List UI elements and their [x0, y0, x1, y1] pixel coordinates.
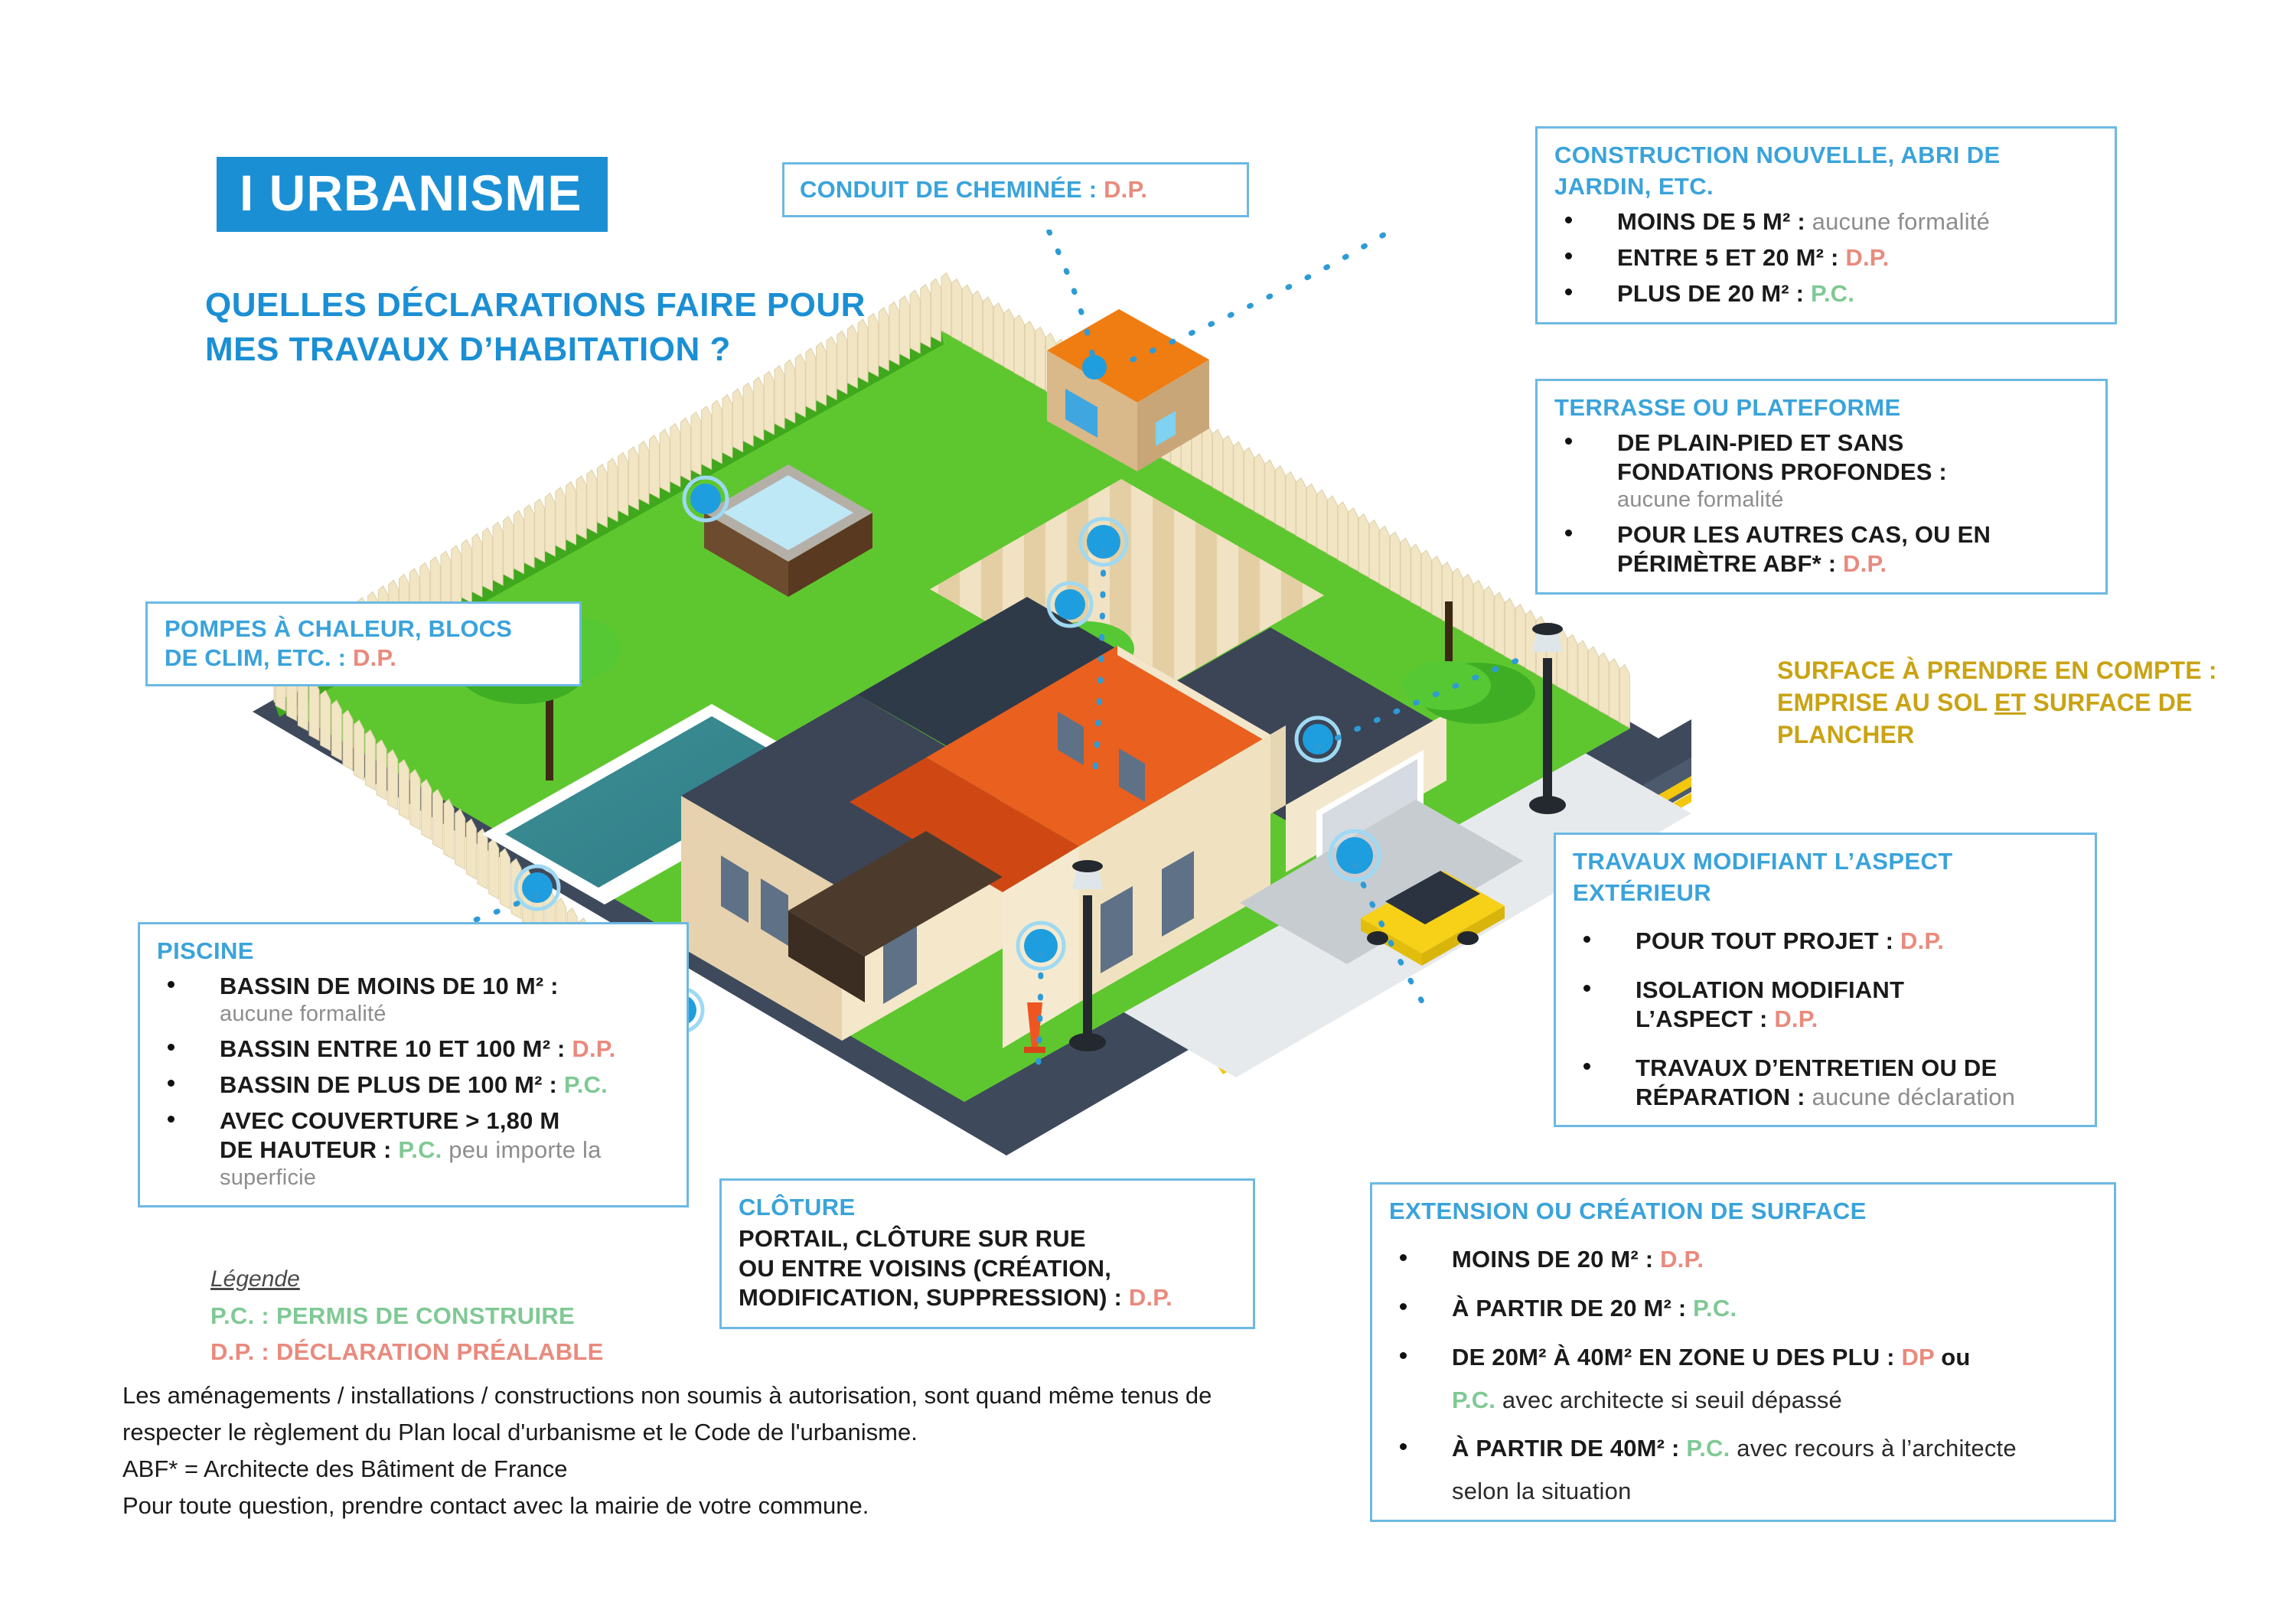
item-label: MOINS DE 5 M² :	[1617, 208, 1812, 235]
item-label-line-2: FONDATIONS PROFONDES :	[1617, 458, 1947, 485]
extension-header: EXTENSION OU CRÉATION DE SURFACE	[1389, 1197, 2097, 1225]
item-tail-2: selon la situation	[1452, 1477, 2097, 1506]
bullet-dot	[1583, 985, 1590, 992]
bullet-dot	[1565, 253, 1572, 259]
item-value-2: P.C.	[1452, 1387, 1495, 1413]
terrasse-header: TERRASSE OU PLATEFORME	[1554, 393, 2089, 422]
list-item: TRAVAUX D’ENTRETIEN OU DE RÉPARATION : a…	[1573, 1054, 2078, 1112]
item-label: À PARTIR DE 20 M² :	[1452, 1295, 1693, 1322]
item-label: MOINS DE 20 M² :	[1452, 1246, 1660, 1273]
item-label-line-2: L’ASPECT :	[1636, 1005, 1774, 1032]
list-item: BASSIN DE MOINS DE 10 M² : aucune formal…	[157, 972, 670, 1028]
item-value: D.P.	[1845, 244, 1889, 271]
cloture-line-3: MODIFICATION, SUPPRESSION) : D.P.	[739, 1283, 1236, 1312]
infographic-canvas: I URBANISME QUELLES DÉCLARATIONS FAIRE P…	[0, 0, 2296, 1623]
list-item: AVEC COUVERTURE > 1,80 M DE HAUTEUR : P.…	[157, 1106, 670, 1191]
list-item: MOINS DE 20 M² : D.P.	[1389, 1245, 2097, 1274]
item-value: DP	[1901, 1344, 1934, 1370]
surface-note: SURFACE À PRENDRE EN COMPTE : EMPRISE AU…	[1777, 654, 2296, 751]
construction-header-1: CONSTRUCTION NOUVELLE, ABRI DE	[1554, 141, 2098, 169]
surface-note-part-a: EMPRISE AU SOL	[1777, 689, 1994, 716]
item-label: BASSIN DE MOINS DE 10 M² :	[220, 973, 559, 999]
piscine-list: BASSIN DE MOINS DE 10 M² : aucune formal…	[157, 972, 670, 1191]
footer-line-3: ABF* = Architecte des Bâtiment de France	[122, 1451, 1347, 1488]
piscine-header: PISCINE	[157, 937, 670, 965]
bullet-dot	[1565, 217, 1572, 223]
list-item: BASSIN ENTRE 10 ET 100 M² : D.P.	[157, 1035, 670, 1064]
subtitle-line-2: MES TRAVAUX D’HABITATION ?	[205, 328, 970, 372]
legend-pc: P.C. : PERMIS DE CONSTRUIRE	[210, 1299, 700, 1335]
bullet-dot	[1583, 1063, 1590, 1070]
extension-list: MOINS DE 20 M² : D.P. À PARTIR DE 20 M² …	[1389, 1245, 2097, 1506]
bullet-dot	[1583, 936, 1590, 943]
footer-line-4: Pour toute question, prendre contact ave…	[122, 1488, 1347, 1524]
item-label: PLUS DE 20 M² :	[1617, 280, 1811, 307]
item-value: P.C.	[398, 1136, 442, 1163]
bullet-dot	[168, 981, 174, 988]
callout-cloture: CLÔTURE PORTAIL, CLÔTURE SUR RUE OU ENTR…	[719, 1178, 1255, 1329]
subtitle-line-1: QUELLES DÉCLARATIONS FAIRE POUR	[205, 283, 970, 328]
page-title-badge: I URBANISME	[217, 157, 608, 232]
bullet-dot	[168, 1044, 174, 1051]
item-value: D.P.	[1843, 550, 1887, 577]
item-value: aucune déclaration	[1812, 1084, 2016, 1110]
item-value: aucune formalité	[1812, 208, 1990, 235]
list-item: MOINS DE 5 M² : aucune formalité	[1554, 207, 2098, 236]
item-value: P.C.	[564, 1071, 608, 1098]
item-label: ENTRE 5 ET 20 M² :	[1617, 244, 1845, 271]
item-label: BASSIN ENTRE 10 ET 100 M² :	[220, 1035, 572, 1062]
page-subtitle: QUELLES DÉCLARATIONS FAIRE POUR MES TRAV…	[205, 283, 970, 372]
cloture-header: CLÔTURE	[739, 1193, 1236, 1221]
list-item: DE 20M² À 40M² EN ZONE U DES PLU : DP ou…	[1389, 1343, 2097, 1415]
bullet-dot	[1400, 1352, 1407, 1359]
pompes-value: D.P.	[353, 644, 396, 671]
list-item: DE PLAIN-PIED ET SANS FONDATIONS PROFOND…	[1554, 429, 2089, 513]
legend-title: Légende	[210, 1266, 700, 1292]
terrasse-list: DE PLAIN-PIED ET SANS FONDATIONS PROFOND…	[1554, 429, 2089, 578]
travaux-header-1: TRAVAUX MODIFIANT L’ASPECT	[1573, 847, 2078, 875]
construction-list: MOINS DE 5 M² : aucune formalité ENTRE 5…	[1554, 207, 2098, 308]
item-label-line-2: PÉRIMÈTRE ABF* :	[1617, 550, 1843, 577]
cheminee-value: D.P.	[1104, 176, 1147, 203]
item-label-line-1: POUR LES AUTRES CAS, OU EN	[1617, 521, 1991, 548]
bullet-dot	[1565, 530, 1572, 536]
travaux-header-2: EXTÉRIEUR	[1573, 878, 2078, 907]
bullet-dot	[1400, 1303, 1407, 1310]
callout-travaux-aspect-exterieur: TRAVAUX MODIFIANT L’ASPECT EXTÉRIEUR POU…	[1554, 833, 2097, 1127]
legend: Légende P.C. : PERMIS DE CONSTRUIRE D.P.…	[210, 1266, 700, 1370]
item-label-line-1: ISOLATION MODIFIANT	[1636, 976, 1904, 1003]
item-value: aucune formalité	[1617, 487, 2089, 513]
callout-extension-creation-surface: EXTENSION OU CRÉATION DE SURFACE MOINS D…	[1370, 1182, 2116, 1522]
item-label-line-1: DE PLAIN-PIED ET SANS	[1617, 429, 1904, 456]
cloture-line-1: PORTAIL, CLÔTURE SUR RUE	[739, 1224, 1236, 1253]
cloture-line-2: OU ENTRE VOISINS (CRÉATION,	[739, 1254, 1236, 1283]
cloture-label: MODIFICATION, SUPPRESSION) :	[739, 1284, 1129, 1311]
pompes-label: DE CLIM, ETC. :	[165, 644, 353, 671]
item-tail-2: avec architecte si seuil dépassé	[1495, 1387, 1842, 1413]
list-item: POUR TOUT PROJET : D.P.	[1573, 927, 2078, 956]
legend-dp: D.P. : DÉCLARATION PRÉALABLE	[210, 1335, 700, 1370]
item-value: aucune formalité	[220, 1001, 670, 1028]
item-label: BASSIN DE PLUS DE 100 M² :	[220, 1071, 564, 1098]
surface-note-line-1: SURFACE À PRENDRE EN COMPTE :	[1777, 654, 2296, 686]
list-item: ISOLATION MODIFIANT L’ASPECT : D.P.	[1573, 976, 2078, 1034]
item-label-line-2: DE HAUTEUR :	[220, 1136, 398, 1163]
item-tail: avec recours à l’architecte	[1730, 1435, 2016, 1462]
item-label-line-1: AVEC COUVERTURE > 1,80 M	[220, 1107, 559, 1134]
pompes-line-2: DE CLIM, ETC. : D.P.	[165, 644, 563, 673]
footer-line-2: respecter le règlement du Plan local d'u…	[122, 1414, 1347, 1451]
list-item: BASSIN DE PLUS DE 100 M² : P.C.	[157, 1071, 670, 1100]
page-title: I URBANISME	[240, 168, 582, 218]
list-item: À PARTIR DE 20 M² : P.C.	[1389, 1294, 2097, 1323]
callout-terrasse-plateforme: TERRASSE OU PLATEFORME DE PLAIN-PIED ET …	[1535, 379, 2108, 595]
bullet-dot	[168, 1116, 174, 1123]
bullet-dot	[1400, 1443, 1407, 1450]
cheminee-line: CONDUIT DE CHEMINÉE : D.P.	[800, 175, 1231, 204]
callout-piscine: PISCINE BASSIN DE MOINS DE 10 M² : aucun…	[138, 922, 689, 1207]
list-item: PLUS DE 20 M² : P.C.	[1554, 279, 2098, 308]
callout-conduit-cheminee: CONDUIT DE CHEMINÉE : D.P.	[782, 162, 1249, 217]
surface-note-part-b: ET	[1994, 689, 2026, 716]
list-item: POUR LES AUTRES CAS, OU EN PÉRIMÈTRE ABF…	[1554, 520, 2089, 578]
footer-notes: Les aménagements / installations / const…	[122, 1377, 1347, 1524]
cheminee-label: CONDUIT DE CHEMINÉE :	[800, 176, 1104, 203]
item-tail: ou	[1934, 1344, 1970, 1370]
item-label-line-2: RÉPARATION :	[1636, 1084, 1812, 1110]
item-value: D.P.	[1774, 1005, 1818, 1032]
item-label: POUR TOUT PROJET :	[1636, 927, 1900, 954]
item-label: DE 20M² À 40M² EN ZONE U DES PLU :	[1452, 1344, 1901, 1370]
item-label-line-1: TRAVAUX D’ENTRETIEN OU DE	[1636, 1054, 1997, 1081]
construction-header-2: JARDIN, ETC.	[1554, 172, 2098, 200]
pompes-line-1: POMPES À CHALEUR, BLOCS	[165, 614, 563, 644]
bullet-dot	[1400, 1254, 1407, 1261]
item-value: P.C.	[1811, 280, 1854, 307]
item-tail-line-2: superficie	[220, 1165, 670, 1191]
bullet-dot	[1565, 438, 1572, 445]
list-item: À PARTIR DE 40M² : P.C. avec recours à l…	[1389, 1434, 2097, 1506]
item-tail: peu importe la	[442, 1136, 601, 1163]
list-item: ENTRE 5 ET 20 M² : D.P.	[1554, 243, 2098, 272]
item-value: P.C.	[1686, 1435, 1730, 1462]
item-value: D.P.	[572, 1035, 615, 1062]
item-value: P.C.	[1693, 1295, 1737, 1322]
item-value: D.P.	[1900, 927, 1944, 954]
callout-pompes-chaleur: POMPES À CHALEUR, BLOCS DE CLIM, ETC. : …	[145, 601, 582, 686]
surface-note-line-2: EMPRISE AU SOL ET SURFACE DE PLANCHER	[1777, 686, 2296, 751]
cloture-value: D.P.	[1129, 1284, 1172, 1311]
footer-line-1: Les aménagements / installations / const…	[122, 1377, 1347, 1414]
bullet-dot	[1565, 288, 1572, 295]
item-value: D.P.	[1660, 1246, 1704, 1273]
bullet-dot	[168, 1080, 174, 1087]
travaux-list: POUR TOUT PROJET : D.P. ISOLATION MODIFI…	[1573, 927, 2078, 1111]
item-label: À PARTIR DE 40M² :	[1452, 1435, 1686, 1462]
callout-construction-nouvelle: CONSTRUCTION NOUVELLE, ABRI DE JARDIN, E…	[1535, 126, 2117, 324]
